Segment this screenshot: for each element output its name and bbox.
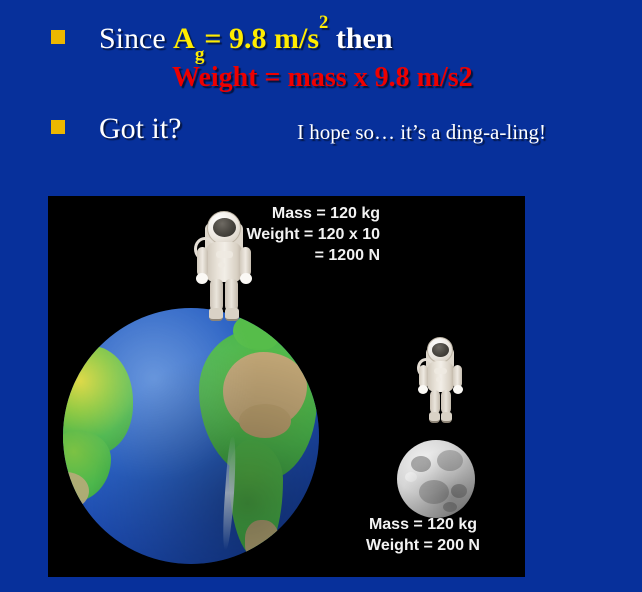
moon-shading-overlay [397, 440, 475, 518]
astronaut-glove-left [196, 273, 208, 284]
astronaut-leg-right [441, 390, 451, 414]
aside-remark: I hope so… it’s a ding-a-ling! [297, 120, 546, 144]
bullet-got-it-text: Got it? [99, 112, 182, 146]
bullet-line-got-it: Got it? [51, 112, 182, 146]
weight-comparison-image: Mass = 120 kg Weight = 120 x 10 = 1200 N [48, 196, 525, 577]
earth-globe [63, 308, 319, 564]
acceleration-exponent: 2 [319, 12, 328, 33]
earth-caption: Mass = 120 kg Weight = 120 x 10 = 1200 N [220, 203, 380, 266]
astronaut-torso [427, 361, 454, 392]
astronaut-glove-right [240, 273, 252, 284]
astronaut-leg-right [225, 279, 238, 311]
slide-canvas: Since Ag= 9.8 m/s2 then Weight = mass x … [0, 0, 642, 592]
astronaut-on-moon [416, 336, 464, 422]
astronaut-boot-right [441, 412, 452, 423]
astronaut-visor [432, 343, 449, 357]
astronaut-boot-right [225, 308, 239, 321]
since-lead: Since [99, 22, 173, 55]
astronaut-leg-left [210, 279, 223, 311]
weight-equation: Weight = mass x 9.8 m/s2 [172, 62, 473, 94]
square-bullet-icon [51, 120, 65, 134]
astronaut-leg-left [430, 390, 440, 414]
square-bullet-icon [51, 30, 65, 44]
astronaut-chest-control [436, 377, 441, 382]
astronaut-chest-panel [434, 368, 447, 374]
bullet-line-since: Since Ag= 9.8 m/s2 then [51, 15, 393, 67]
bullet-since-text: Since Ag= 9.8 m/s2 then [99, 15, 393, 67]
moon-sphere [397, 440, 475, 518]
astronaut-boot-left [429, 412, 440, 423]
acceleration-value: = 9.8 m/s [204, 22, 319, 55]
astronaut-glove-left [418, 385, 428, 394]
astronaut-glove-right [453, 385, 463, 394]
since-trail: then [328, 22, 392, 55]
astronaut-boot-left [209, 308, 223, 321]
moon-caption: Mass = 120 kg Weight = 200 N [338, 514, 508, 556]
earth-shading-overlay [63, 308, 319, 564]
acceleration-symbol: A [173, 22, 195, 55]
